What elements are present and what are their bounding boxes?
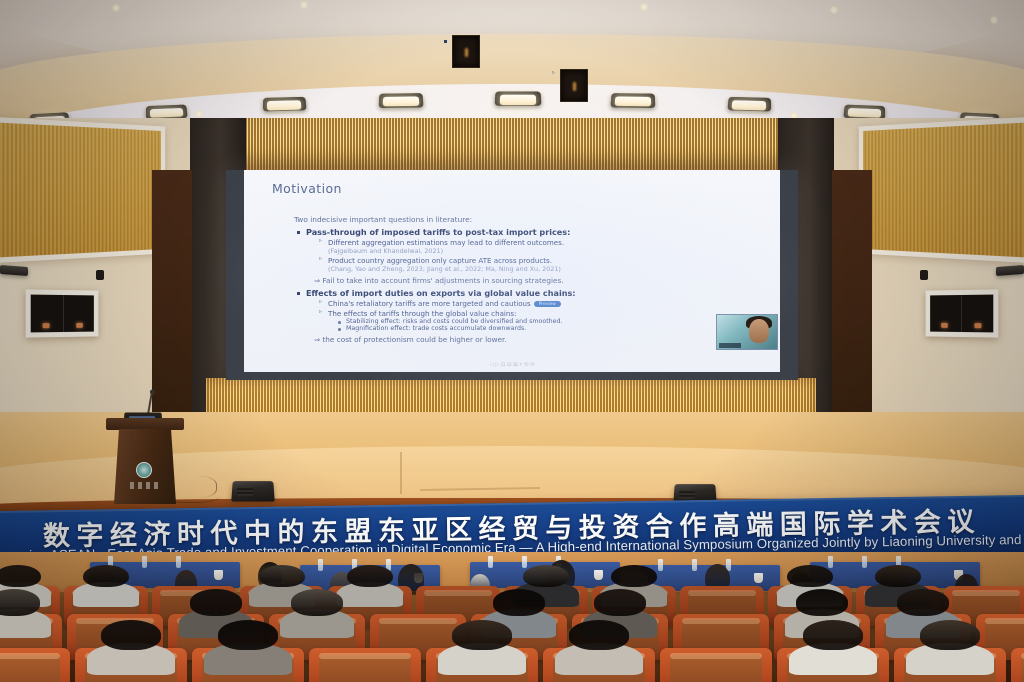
slide-detail-2-1: Stabilizing effect: risks and costs coul… (346, 318, 770, 325)
wall-camera-left (96, 270, 104, 280)
projection-booth-window (452, 35, 480, 68)
ceiling-downlight (990, 16, 998, 24)
water-bottle (142, 556, 147, 568)
ceiling-downlight (640, 3, 648, 11)
slide-bullet-heading-1: Pass-through of imposed tariffs to post-… (306, 227, 770, 237)
paper-cup (594, 570, 603, 580)
water-bottle (658, 559, 663, 571)
backdrop-slat-upper (190, 118, 834, 170)
audience-member-head (218, 620, 278, 650)
ceiling-downlight (300, 1, 308, 9)
audience-member-head (452, 620, 512, 650)
audience-member-head (493, 589, 545, 615)
auditorium-seat (309, 648, 421, 682)
slide-subpoint-1-2: Product country aggregation only capture… (328, 256, 770, 265)
wall-speaker-left (0, 265, 28, 276)
slide-conclusion-2: ⇒ the cost of protectionism could be hig… (314, 335, 770, 344)
slide-preview-pill: Preview (534, 301, 561, 307)
wall-speaker-right (996, 265, 1024, 276)
slide-subpoint-2-2: The effects of tariffs through the globa… (328, 309, 770, 318)
audience-member-head (0, 589, 40, 615)
audience-member-head (0, 565, 41, 588)
slide-subpoint-2-1: China's retaliatory tariffs are more tar… (328, 299, 770, 308)
projection-screen: Motivation Two indecisive important ques… (226, 170, 798, 380)
audience-member-head (523, 565, 568, 588)
auditorium-seat (1011, 648, 1024, 682)
webcam-thumbnail (716, 314, 778, 350)
water-bottle (318, 559, 323, 571)
paper-cup (214, 570, 223, 580)
wall-cabinet-left (26, 289, 99, 337)
audience-member-head (347, 565, 392, 588)
auditorium-seat (660, 648, 772, 682)
ceiling-light-fixture (146, 104, 187, 119)
slide-subpoint-2-1-text: China's retaliatory tariffs are more tar… (328, 299, 531, 308)
acoustic-slat-panel-right (859, 117, 1024, 263)
slide-title: Motivation (272, 181, 342, 196)
audience-member-head (875, 565, 920, 588)
slide-detail-2-2: Magnification effect: trade costs accumu… (346, 325, 770, 332)
slide-citation-1-2: (Chang, Yao and Zheng, 2023; Jiang et al… (328, 265, 770, 273)
ceiling-light-fixture (262, 97, 305, 112)
pdf-toolbar-icons[interactable]: ◁ ▷ ⊡ ⊟ ⊞ ⌕ ⟲ ⟳ (489, 362, 534, 369)
ceiling-downlight (112, 4, 120, 12)
audience-seating-area (0, 552, 1024, 682)
auditorium-photo: Motivation Two indecisive important ques… (0, 0, 1024, 682)
slide-citation-1-1: (Fajgelbaum and Khandelwal, 2021) (328, 247, 770, 255)
university-emblem-icon (136, 462, 152, 478)
water-bottle (176, 556, 181, 568)
stage-wing-left (152, 170, 192, 420)
audience-member-head (897, 589, 949, 615)
water-bottle (522, 556, 527, 568)
audience-member-head (920, 620, 980, 650)
presentation-slide: Motivation Two indecisive important ques… (244, 170, 780, 372)
audience-member-head (101, 620, 161, 650)
webcam-face (749, 319, 769, 343)
floor-cable (172, 476, 217, 498)
podium-top-surface (106, 418, 184, 430)
ceiling-light-fixture (611, 93, 656, 108)
ceiling-downlight (830, 6, 838, 14)
water-bottle (828, 556, 833, 568)
ceiling-light-fixture (727, 97, 770, 112)
audience-member-head (291, 589, 343, 615)
paper-cup (754, 573, 763, 583)
audience-member-head (594, 589, 646, 615)
ceiling-downlight (195, 110, 203, 118)
slide-subpoint-1-1: Different aggregation estimations may le… (328, 238, 770, 247)
projection-booth-window (560, 69, 588, 102)
ceiling-light-fixture (495, 91, 542, 105)
audience-member-head (611, 565, 656, 588)
slide-lead-text: Two indecisive important questions in li… (294, 215, 770, 224)
audience-member-head (796, 589, 848, 615)
audience-member-head (803, 620, 863, 650)
webcam-name-tag (719, 343, 741, 348)
acoustic-slat-panel-left (0, 117, 165, 263)
stage-wing-right (832, 170, 872, 420)
wall-camera-right (920, 270, 928, 280)
water-bottle (862, 556, 867, 568)
ceiling-light-fixture (378, 93, 423, 108)
pdf-toolbar[interactable]: ◁ ▷ ⊡ ⊟ ⊞ ⌕ ⟲ ⟳ (489, 362, 534, 369)
auditorium-seat (0, 648, 70, 682)
audience-member-head (190, 589, 242, 615)
ceiling-light-fixture (843, 104, 884, 119)
slide-conclusion-1: ⇒ Fail to take into account firms' adjus… (314, 276, 770, 285)
audience-member-head (259, 565, 304, 588)
floor-seam (400, 452, 402, 494)
audience-member-head (569, 620, 629, 650)
wall-cabinet-right (926, 289, 999, 337)
slide-body: Two indecisive important questions in li… (284, 215, 770, 347)
stage-monitor-speaker-left (231, 481, 274, 501)
audience-member-head (83, 565, 128, 588)
slide-bullet-heading-2: Effects of import duties on exports via … (306, 288, 770, 298)
audience-member-head (787, 565, 832, 588)
water-bottle (488, 556, 493, 568)
water-bottle (692, 559, 697, 571)
